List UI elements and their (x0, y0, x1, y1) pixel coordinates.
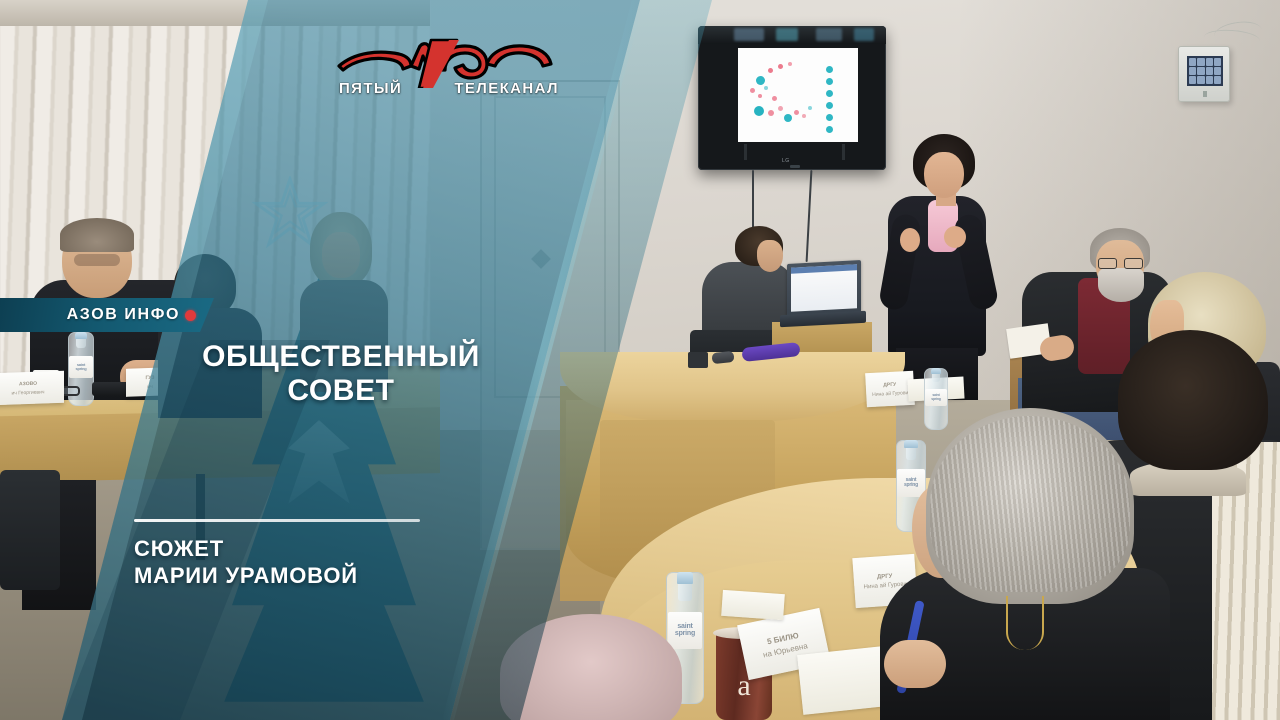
headline: ОБЩЕСТВЕННЫЙ СОВЕТ (176, 340, 506, 407)
channel-subtitle: ПЯТЫЙ ТЕЛЕКАНАЛ (333, 80, 565, 97)
credit-line-2: МАРИИ УРАМОВОЙ (134, 562, 358, 589)
headline-line-2: СОВЕТ (176, 374, 506, 408)
station-badge: АЗОВ ИНФО (0, 298, 214, 332)
station-badge-label: АЗОВ ИНФО (67, 306, 180, 324)
lower-third-graphic: АЗОВ ИНФО ОБЩЕСТВЕННЫЙ СОВЕТ СЮЖЕТ МАРИИ… (0, 0, 1280, 720)
credit-line-1: СЮЖЕТ (134, 535, 358, 562)
channel-subtitle-right: ТЕЛЕКАНАЛ (454, 80, 559, 97)
channel-logo: ПЯТЫЙ ТЕЛЕКАНАЛ (333, 36, 565, 108)
divider-rule (134, 519, 420, 522)
reporter-credit: СЮЖЕТ МАРИИ УРАМОВОЙ (134, 535, 358, 590)
headline-line-1: ОБЩЕСТВЕННЫЙ (176, 340, 506, 374)
broadcast-frame: LG (0, 0, 1280, 720)
channel-subtitle-left: ПЯТЫЙ (339, 80, 402, 97)
recording-dot-icon (185, 310, 196, 321)
